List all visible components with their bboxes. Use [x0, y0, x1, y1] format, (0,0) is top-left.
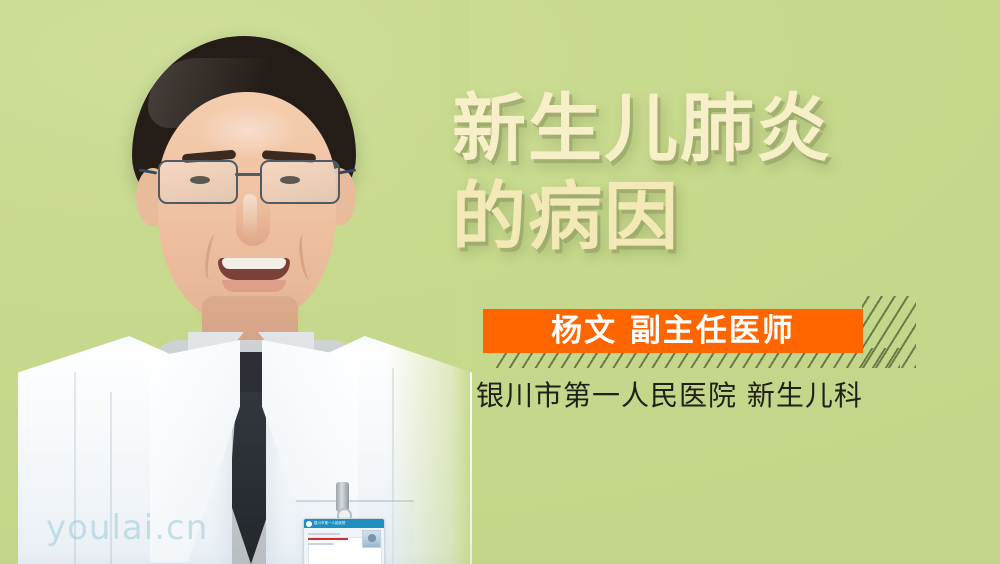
nose-highlight: [243, 194, 257, 238]
id-badge-text-line: [308, 538, 348, 540]
forehead-highlight: [196, 104, 300, 158]
id-badge-card: 银川市第一人民医院: [303, 518, 385, 564]
eyeglass-lens-left: [158, 160, 238, 204]
video-thumbnail-card: 银川市第一人民医院 youlai.cn 新生儿肺炎 的病因 杨文 副主任医师 银…: [0, 0, 1000, 564]
lower-lip: [222, 280, 286, 292]
eyeglass-bridge: [235, 173, 261, 176]
speaker-name-label: 杨文 副主任医师: [551, 316, 795, 347]
id-badge-organization: 银川市第一人民医院: [314, 522, 345, 525]
teeth: [222, 258, 286, 269]
id-badge-text-line: [308, 533, 340, 535]
id-badge-header: 银川市第一人民医院: [304, 519, 384, 528]
mouth: [218, 258, 290, 280]
watermark: youlai.cn: [46, 508, 208, 548]
affiliation-label: 银川市第一人民医院 新生儿科: [476, 379, 863, 413]
page-title-line-1: 新生儿肺炎: [452, 86, 972, 172]
id-badge-text-line: [308, 543, 334, 545]
hospital-logo-icon: [306, 521, 312, 527]
id-badge-portrait: [362, 530, 381, 548]
speaker-name-badge: 杨文 副主任医师: [483, 309, 863, 353]
doctor-portrait-photo: 银川市第一人民医院: [0, 0, 470, 564]
page-title-line-2: 的病因: [452, 174, 972, 260]
eyeglass-lens-right: [260, 160, 340, 204]
